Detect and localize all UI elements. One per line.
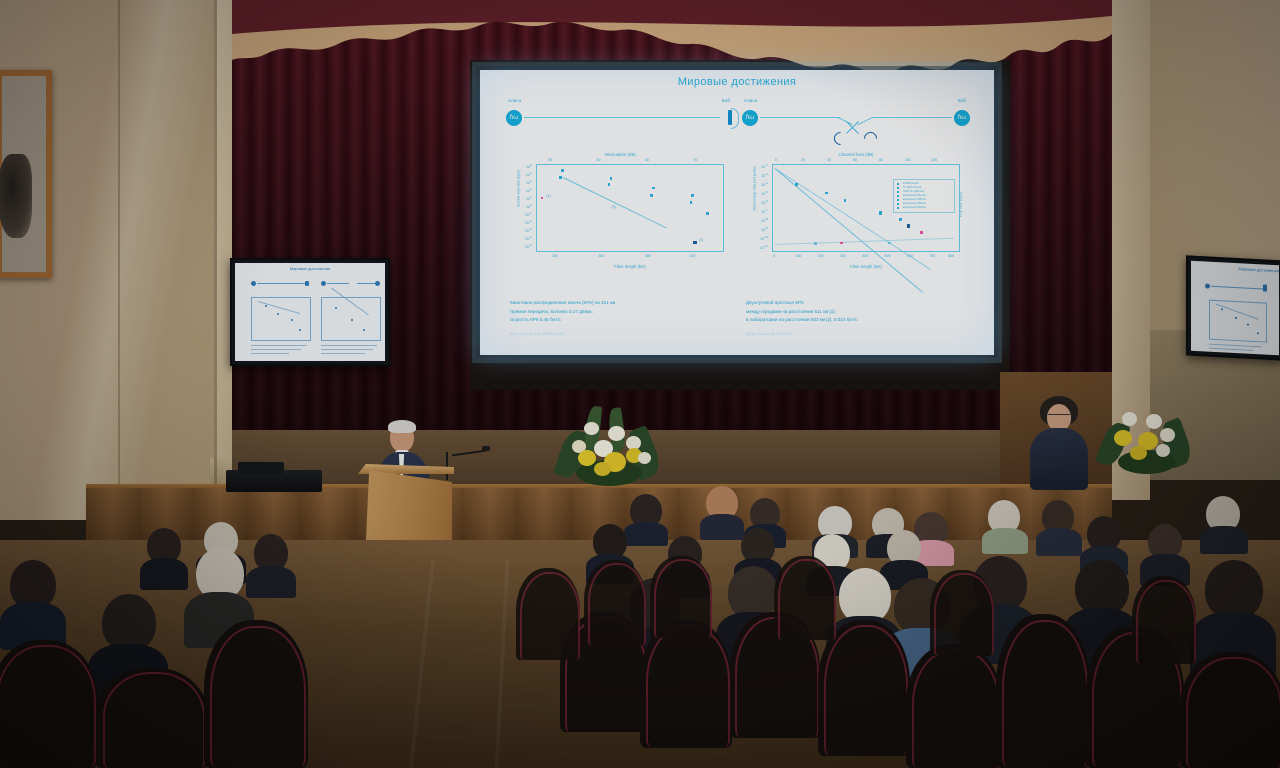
conference-hall-photo: Мировые достижения Алиса Боб ħω Attenuat… xyxy=(0,0,1280,768)
wall-seam xyxy=(118,0,120,520)
chart-left-point xyxy=(610,177,613,180)
chart-right-xtick-5: 500 xyxy=(885,254,891,258)
chart-right: Channel loss (dB) Secret key rate per pu… xyxy=(746,154,966,270)
direct-transmission-diagram: Алиса Боб ħω xyxy=(502,98,738,150)
legend-entry-0: PLOB bound xyxy=(903,182,918,185)
audience-chair xyxy=(0,640,98,768)
presenter-hair xyxy=(388,420,416,433)
flower-arrangement-right xyxy=(1098,392,1194,482)
audience-chair xyxy=(650,556,712,638)
chart-left-point xyxy=(652,187,655,190)
alice-node-right: ħω xyxy=(742,110,758,126)
right-caption: Двухлучевой протокол КРК между городами … xyxy=(746,299,968,338)
chart-left-point xyxy=(608,183,611,186)
chart-left-xtick-1: 300 xyxy=(598,254,604,258)
legend-entry-6: Experiment 833 km xyxy=(903,206,926,209)
left-caption-line-1: Прямая передача, волокно 0.17 дБ/км, xyxy=(510,308,732,317)
audience-person xyxy=(0,560,66,646)
chart-right-toptick-1: 20 xyxy=(801,158,805,162)
confidence-monitor-right-title: Мировые достижения xyxy=(1191,264,1279,274)
bob-node-right: ħω xyxy=(954,110,970,126)
chart-left-point-highlight-2 xyxy=(693,241,696,244)
confidence-monitor-left-title: Мировые достижения xyxy=(235,266,385,271)
slide-right-panel: Алиса Боб ħω ħω Channel loss (dB) Secret… xyxy=(738,98,974,348)
confidence-monitor-right-screen: Мировые достижения xyxy=(1191,261,1279,356)
chart-right-point xyxy=(814,242,817,245)
alice-label-left: Алиса xyxy=(508,98,521,103)
audience-chair xyxy=(640,620,732,748)
chart-left-point xyxy=(561,169,564,172)
confidence-monitor-left-screen: Мировые достижения xyxy=(235,263,385,361)
left-caption-line-0: Квантовое распределение ключа (КРК) на 4… xyxy=(510,299,732,308)
confidence-monitor-right: Мировые достижения xyxy=(1186,255,1280,360)
legend-entry-1: TF-QKD bound xyxy=(903,186,921,189)
twin-field-diagram: Алиса Боб ħω ħω xyxy=(738,98,974,150)
flower-arrangement-center xyxy=(552,396,668,492)
standing-attendee-sweater xyxy=(1030,428,1088,490)
fiber-link-left xyxy=(524,117,720,118)
chart-right-xtick-4: 400 xyxy=(862,254,868,258)
audience-person xyxy=(982,500,1028,550)
chart-left-toptick-0: 40 xyxy=(548,158,552,162)
chart-right-point-833km xyxy=(920,231,923,234)
audience-chair xyxy=(1132,576,1196,664)
audience-chair xyxy=(584,560,646,646)
chart-left-point xyxy=(691,194,694,197)
chart-right-top-axis-label: Channel loss (dB) xyxy=(746,152,966,157)
chart-left-xlabel: Fiber length (km) xyxy=(536,264,724,269)
chart-left-trendline xyxy=(563,177,667,228)
chart-right-point xyxy=(844,199,847,202)
chart-right-point xyxy=(888,242,891,245)
chart-right-xtick-7: 700 xyxy=(929,254,935,258)
legend-entry-3: Experiment 511 km xyxy=(903,194,926,197)
chart-right-xtick-8: 800 xyxy=(948,254,954,258)
chart-right-toptick-6: 120 xyxy=(931,158,937,162)
chart-right-xlabel: Fiber length (km) xyxy=(772,264,960,269)
audience-chair xyxy=(96,668,208,768)
detector-icon-right xyxy=(861,129,879,147)
chart-right-toptick-4: 80 xyxy=(879,158,883,162)
chart-left-toptick-3: 70 xyxy=(693,158,697,162)
slide-left-panel: Алиса Боб ħω Attenuation (dB) Secret key… xyxy=(502,98,738,348)
chart-left-annotation-3: (3) xyxy=(611,205,615,209)
right-caption-line-1: между городами на расстоянии 511 км [1] xyxy=(746,308,968,317)
microphone-head xyxy=(482,446,490,451)
standing-attendee-right xyxy=(1028,398,1090,490)
chart-left-top-axis-label: Attenuation (dB) xyxy=(510,152,730,157)
audience-person xyxy=(1140,524,1190,582)
audience-chair xyxy=(516,568,580,660)
wall-seam-secondary xyxy=(214,0,217,520)
chart-right-legend: PLOB bound TF-QKD bound SNS-TF-QKD sim. … xyxy=(893,179,955,213)
alice-label-right: Алиса xyxy=(744,98,757,103)
audience-chair xyxy=(930,570,994,656)
chart-left-xtick-0: 250 xyxy=(552,254,558,258)
chart-right-point xyxy=(795,183,798,186)
chart-left: Attenuation (dB) Secret key rate (bps) F… xyxy=(510,154,730,270)
audience-chair xyxy=(774,556,836,640)
chart-right-ylabel: Secret key rate per pulse xyxy=(752,159,757,219)
chart-left-point xyxy=(650,194,653,197)
right-reference: [1] Nat. Photon. 15, 570 (2021) xyxy=(746,330,968,339)
legend-entry-2: SNS-TF-QKD sim. xyxy=(903,190,925,193)
chart-left-xtick-2: 350 xyxy=(645,254,651,258)
chart-right-xtick-2: 200 xyxy=(818,254,824,258)
chart-right-toptick-5: 100 xyxy=(905,158,911,162)
fiber-link-alice xyxy=(760,117,840,118)
audience-person xyxy=(1036,500,1082,552)
right-caption-line-0: Двухлучевой протокол КРК xyxy=(746,299,968,308)
chart-right-xtick-1: 100 xyxy=(795,254,801,258)
chart-right-plot-area: 0 20 40 60 80 100 120 0 100 200 300 400 … xyxy=(772,164,960,252)
chart-left-xtick-3: 400 xyxy=(690,254,696,258)
legend-entry-5: Experiment 658 km xyxy=(903,202,926,205)
audience-chair xyxy=(818,620,910,756)
legend-entry-4: Experiment 605 km xyxy=(903,198,926,201)
chart-right-xtick-0: 0 xyxy=(773,254,775,258)
slide-title: Мировые достижения xyxy=(480,76,994,88)
laptop xyxy=(238,462,284,474)
chart-left-point xyxy=(706,212,709,215)
chart-right-toptick-2: 40 xyxy=(827,158,831,162)
chart-right-toptick-0: 0 xyxy=(775,158,777,162)
chart-left-annotation-1: (1) xyxy=(546,194,550,198)
chart-left-point xyxy=(559,176,562,179)
chart-left-annotation-2: (2) xyxy=(699,238,703,242)
left-caption-line-2: скорость КРК 0.45 бит/с xyxy=(510,316,732,325)
confidence-monitor-left: Мировые достижения xyxy=(230,258,390,366)
chart-left-toptick-1: 50 xyxy=(597,158,601,162)
left-reference: Phys. Rev. Lett. 121, 190502 (2018) xyxy=(510,330,732,339)
alice-node-left: ħω xyxy=(506,110,522,126)
fiber-link-bob xyxy=(872,117,952,118)
chart-right-point-511km xyxy=(879,211,882,214)
chart-right-point xyxy=(825,192,828,195)
microphone-post xyxy=(446,452,448,480)
framed-picture xyxy=(0,70,52,278)
audience-chair xyxy=(996,614,1090,768)
chart-right-point-658km xyxy=(907,224,910,227)
chart-left-point xyxy=(690,201,693,204)
audience-chair xyxy=(1180,652,1280,768)
chart-right-xtick-3: 300 xyxy=(840,254,846,258)
beam-splitter-icon xyxy=(846,120,860,134)
projection-screen: Мировые достижения Алиса Боб ħω Attenuat… xyxy=(480,70,994,355)
audience-chair xyxy=(204,620,308,768)
chart-right-point xyxy=(840,242,843,245)
chart-right-toptick-3: 60 xyxy=(853,158,857,162)
single-photon-detector-icon xyxy=(728,110,732,125)
chart-left-point-highlight-1 xyxy=(541,197,544,200)
left-caption: Квантовое распределение ключа (КРК) на 4… xyxy=(510,299,732,338)
chart-right-point-605km xyxy=(899,218,902,221)
glasses-icon xyxy=(1048,414,1070,419)
audience-chair xyxy=(906,644,1002,768)
chart-left-plot-area: 40 50 60 70 250 300 350 400 105 104 103 … xyxy=(536,164,724,252)
audience-person xyxy=(1200,496,1248,550)
bob-label-right: Боб xyxy=(958,98,966,103)
chart-left-toptick-2: 60 xyxy=(645,158,649,162)
chart-left-ylabel: Secret key rate (bps) xyxy=(516,159,521,219)
audience-person xyxy=(140,528,188,586)
bob-label-left: Боб xyxy=(722,98,730,103)
right-caption-line-2: в лаборатории на расстоянии 833 км [2], … xyxy=(746,316,968,325)
